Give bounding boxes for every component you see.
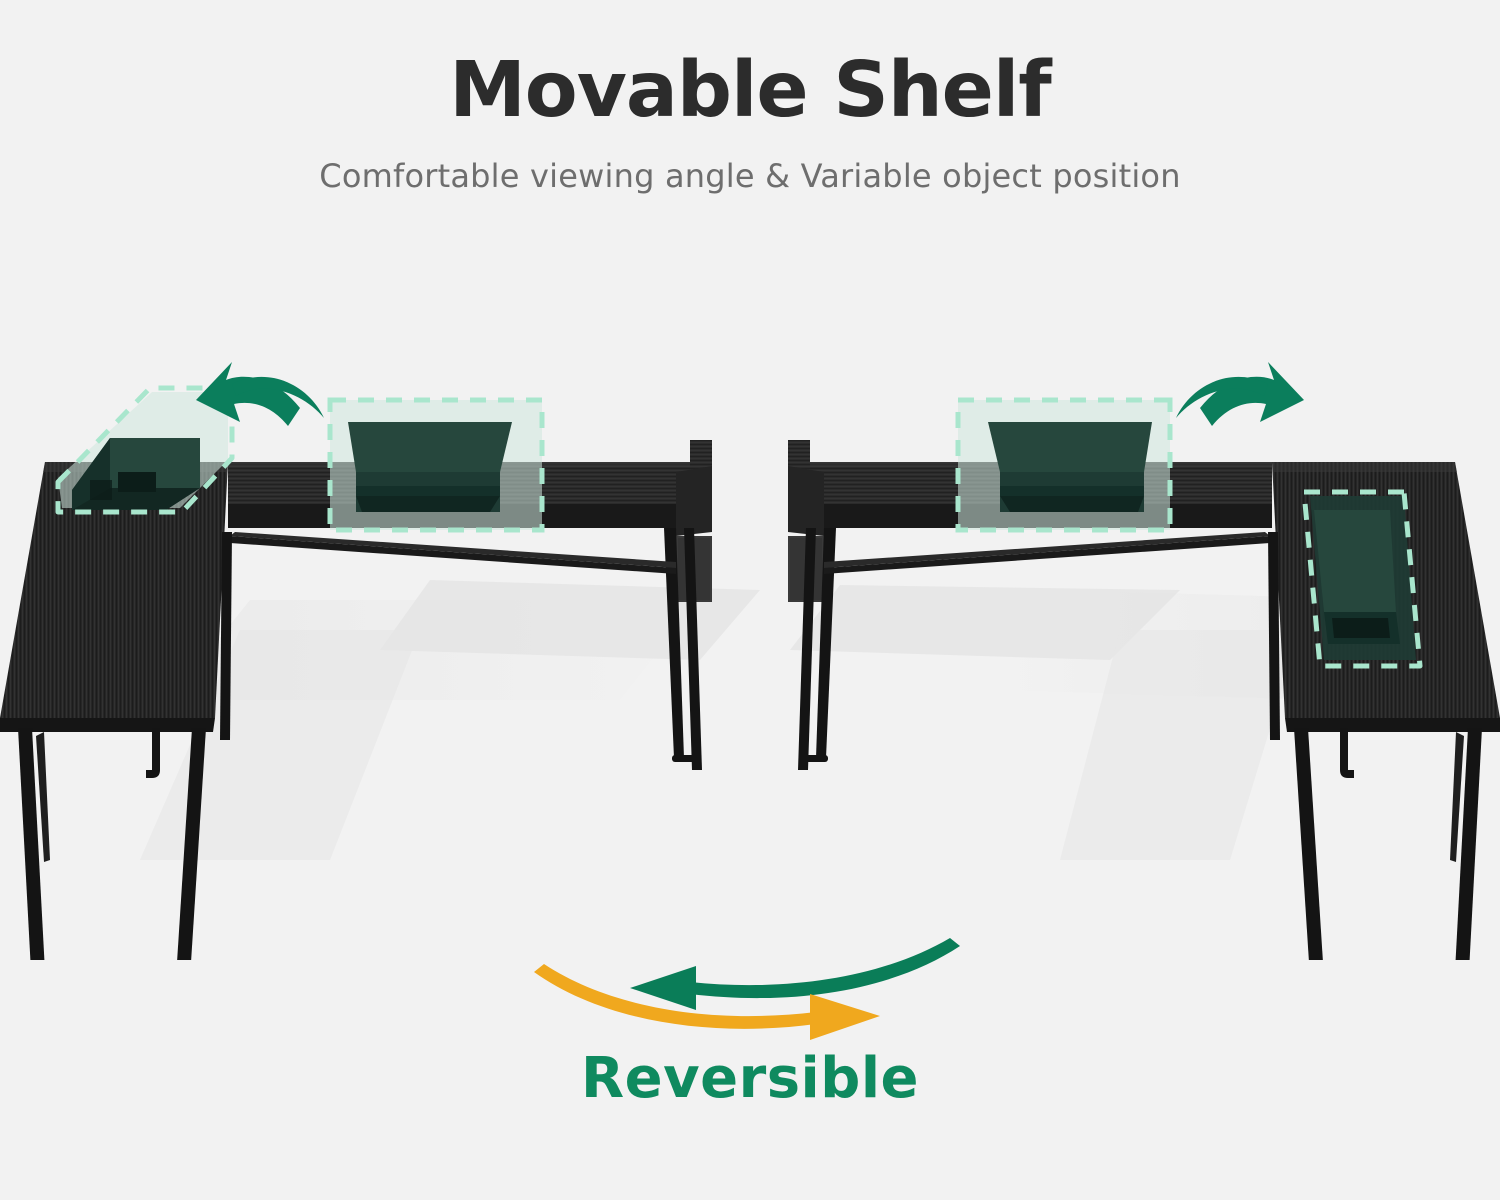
right-desk-move-arrow (1176, 362, 1304, 426)
left-desk-shelf-center (330, 400, 542, 530)
page-subtitle: Comfortable viewing angle & Variable obj… (0, 129, 1500, 194)
reversible-label: Reversible (0, 1040, 1500, 1111)
right-desk-shelf-center (958, 400, 1170, 530)
product-illustration (0, 300, 1500, 960)
reversible-arrows (490, 930, 1010, 1040)
page-title: Movable Shelf (0, 0, 1500, 129)
curved-arrow-left-icon (630, 938, 960, 1010)
desks-svg (0, 300, 1500, 960)
product-feature-page: Movable Shelf Comfortable viewing angle … (0, 0, 1500, 1200)
floor-shadows (140, 580, 1400, 860)
footer-block: Reversible (0, 930, 1500, 1111)
header-block: Movable Shelf Comfortable viewing angle … (0, 0, 1500, 194)
curved-arrow-right-icon (534, 964, 880, 1040)
